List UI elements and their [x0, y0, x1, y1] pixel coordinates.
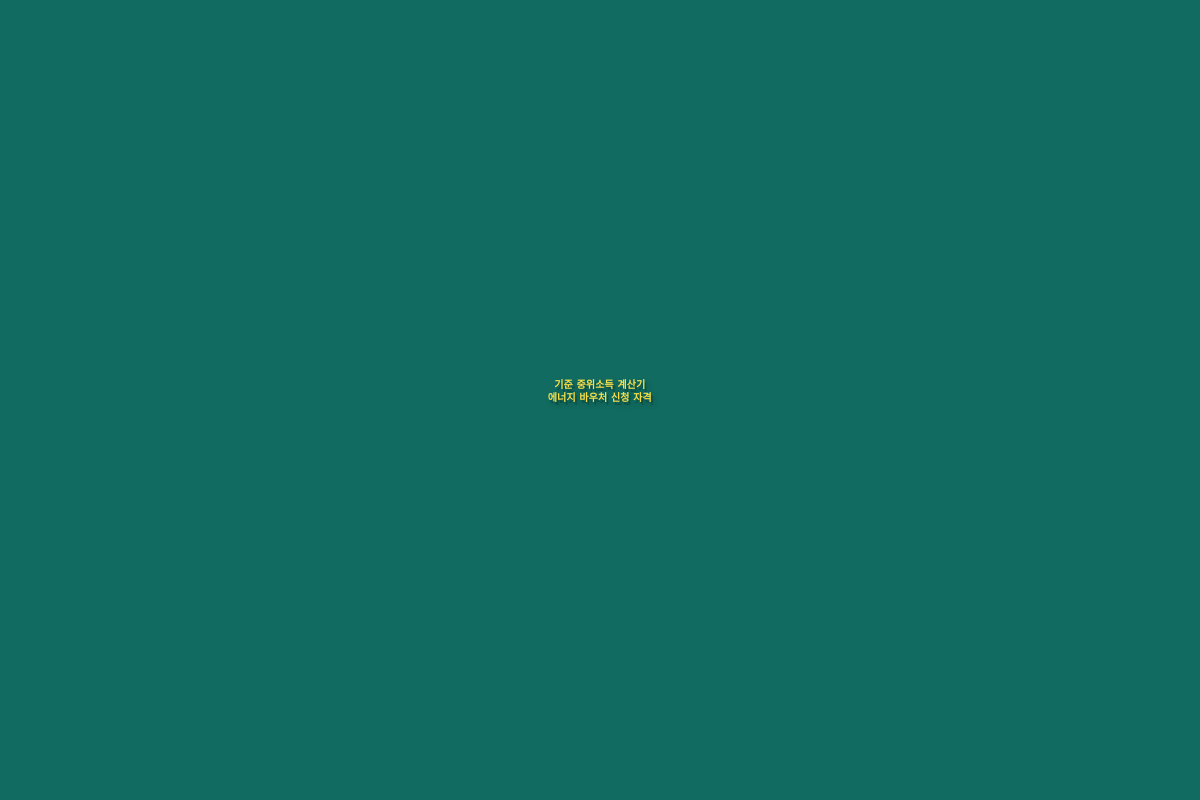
banner-canvas: 기준 중위소득 계산기 에너지 바우처 신청 자격 [0, 0, 1200, 800]
headline-block: 기준 중위소득 계산기 에너지 바우처 신청 자격 [0, 379, 1200, 405]
headline-line-2: 에너지 바우처 신청 자격 [40, 392, 1160, 405]
headline-line-1: 기준 중위소득 계산기 [40, 379, 1160, 392]
